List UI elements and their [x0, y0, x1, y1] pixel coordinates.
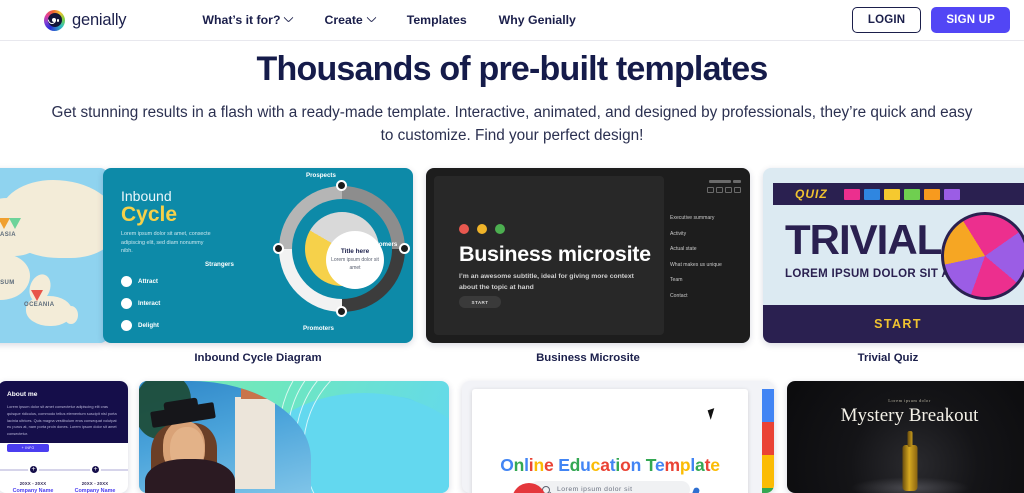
timeline-years: 20XX - 20XX	[58, 481, 128, 486]
template-card-title: Business Microsite	[426, 352, 750, 364]
microsite-title: Business microsite	[459, 242, 651, 267]
nav-item-why-genially[interactable]: Why Genially	[499, 13, 576, 27]
page-subtitle: Get stunning results in a flash with a r…	[45, 102, 980, 148]
legend-label: Attract	[138, 278, 158, 285]
page-title: Thousands of pre-built templates	[0, 49, 1024, 90]
cycle-center: Title here Lorem ipsum dolor sit amet	[326, 231, 384, 289]
cycle-ring: Title here Lorem ipsum dolor sit amet	[279, 186, 405, 312]
cycle-knob-icon	[273, 243, 284, 254]
timeline-caption: 20XX - 20XX Company Name	[58, 481, 128, 493]
template-card-inbound-cycle[interactable]: Inbound Cycle Lorem ipsum dolor sit amet…	[103, 168, 413, 364]
signup-button[interactable]: SIGN UP	[931, 7, 1010, 33]
template-thumbnail[interactable]: About me Lorem ipsum dolor sit amet cons…	[0, 381, 128, 493]
mystery-pretitle: Lorem ipsum dolor	[888, 398, 930, 403]
timeline-node-icon	[90, 464, 101, 475]
microsite-menu-item[interactable]: Executive summary	[670, 215, 722, 221]
map-pin-icon	[31, 290, 43, 301]
nav-item-label: Why Genially	[499, 13, 576, 27]
bottle-decoration	[902, 445, 917, 491]
genially-logo-icon	[44, 10, 65, 31]
legend-label: Interact	[138, 300, 160, 307]
cycle-body-text: Lorem ipsum dolor sit amet, consecte adi…	[121, 230, 213, 256]
interact-icon	[121, 298, 132, 309]
top-navbar: genially What’s it for? Create Templates…	[0, 0, 1024, 41]
brand-logo-link[interactable]: genially	[44, 10, 126, 31]
template-thumbnail[interactable]: Online Education Template Lorem ipsum do…	[462, 381, 774, 493]
quiz-title: TRIVIAL	[785, 216, 941, 264]
legend-label: Delight	[138, 322, 159, 329]
education-title: Online Education Template	[500, 455, 720, 476]
about-title: About me	[7, 391, 128, 398]
nav-item-templates[interactable]: Templates	[407, 13, 467, 27]
microsite-sidebar: Executive summary Activity Actual state …	[664, 168, 750, 343]
template-grid-row-1: UM ASIA OREM IPSUM OCEANIA p Inbound Cyc…	[0, 168, 1024, 364]
quiz-start-button[interactable]: START	[874, 317, 922, 331]
microsite-menu-item[interactable]: Team	[670, 277, 722, 283]
cycle-legend: Attract Interact Delight	[121, 276, 160, 342]
timeline-line	[0, 469, 128, 471]
nav-item-label: Create	[324, 13, 362, 27]
about-body: Lorem ipsum dolor sit amet consectetur a…	[7, 404, 119, 438]
cycle-ring-label: Promoters	[303, 325, 334, 332]
cycle-knob-icon	[336, 180, 347, 191]
nav-item-label: Templates	[407, 13, 467, 27]
nav-item-label: What’s it for?	[202, 13, 280, 27]
window-dots	[459, 224, 505, 234]
cycle-ring-label: Customers	[365, 241, 397, 248]
map-pin-icon	[9, 218, 21, 229]
template-thumbnail[interactable]: Inbound Cycle Lorem ipsum dolor sit amet…	[103, 168, 413, 343]
mystery-title: Mystery Breakout	[841, 405, 979, 427]
about-info-button[interactable]: + INFO	[7, 444, 49, 452]
microsite-main-panel: Business microsite I’m an awesome subtit…	[434, 176, 664, 335]
primary-nav: What’s it for? Create Templates Why Geni…	[202, 13, 576, 27]
template-card-title: Trivial Quiz	[763, 352, 1013, 364]
template-thumbnail[interactable]: Lorem ipsum dolor Mystery Breakout	[787, 381, 1024, 493]
template-card-about-me[interactable]: About me Lorem ipsum dolor sit amet cons…	[0, 381, 126, 493]
brand-name: genially	[72, 11, 126, 30]
cycle-center-text: Lorem ipsum dolor sit amet	[326, 257, 384, 272]
sidebar-bars-icon	[709, 180, 741, 183]
cycle-knob-icon	[399, 243, 410, 254]
template-card-trivial-quiz[interactable]: QUIZ TRIVIAL LOREM IPSUM DOLOR SIT AMET!…	[763, 168, 1024, 364]
login-button[interactable]: LOGIN	[852, 7, 921, 33]
template-card-graduate[interactable]	[139, 381, 449, 493]
template-card-title: Inbound Cycle Diagram	[103, 352, 413, 364]
map-label: OCEANIA	[24, 302, 54, 308]
attract-icon	[121, 276, 132, 287]
template-thumbnail[interactable]: QUIZ TRIVIAL LOREM IPSUM DOLOR SIT AMET!…	[763, 168, 1024, 343]
chevron-down-icon	[284, 12, 294, 22]
microsite-subtitle: I’m an awesome subtitle, ideal for givin…	[459, 272, 649, 293]
template-thumbnail[interactable]	[139, 381, 449, 493]
cycle-ring-label: Strangers	[205, 261, 234, 268]
template-card-title: p	[0, 352, 86, 364]
microsite-menu-item[interactable]: Actual state	[670, 246, 722, 252]
search-placeholder: Lorem ipsum dolor sit	[557, 486, 632, 493]
cycle-heading-1: Inbound	[121, 188, 172, 204]
template-card-mystery-breakout[interactable]: Lorem ipsum dolor Mystery Breakout	[787, 381, 1024, 493]
template-card-online-education[interactable]: Online Education Template Lorem ipsum do…	[462, 381, 774, 493]
microsite-menu-item[interactable]: What makes us unique	[670, 262, 722, 268]
nav-item-whats-it-for[interactable]: What’s it for?	[202, 13, 292, 27]
delight-icon	[121, 320, 132, 331]
education-screen: Online Education Template Lorem ipsum do…	[472, 389, 748, 493]
map-label: ASIA	[0, 232, 16, 238]
education-search-input[interactable]: Lorem ipsum dolor sit	[530, 481, 690, 493]
microsite-start-button[interactable]: START	[459, 296, 501, 308]
cycle-knob-icon	[336, 306, 347, 317]
about-header: About me Lorem ipsum dolor sit amet cons…	[0, 381, 128, 443]
legend-item: Delight	[121, 320, 160, 331]
quiz-banner: QUIZ	[773, 183, 1024, 205]
template-thumbnail[interactable]: UM ASIA OREM IPSUM OCEANIA	[0, 168, 108, 343]
cycle-center-title: Title here	[341, 248, 369, 255]
microsite-menu-item[interactable]: Activity	[670, 231, 722, 237]
hero-section: Thousands of pre-built templates Get stu…	[0, 41, 1024, 148]
quiz-tag: QUIZ	[795, 187, 828, 201]
template-thumbnail[interactable]: Business microsite I’m an awesome subtit…	[426, 168, 750, 343]
quiz-color-chips	[844, 189, 960, 200]
legend-item: Interact	[121, 298, 160, 309]
quiz-pie-icon	[941, 212, 1024, 300]
cycle-ring-label: Prospects	[306, 172, 336, 179]
color-rail	[762, 389, 774, 493]
nav-actions: LOGIN SIGN UP	[852, 7, 1010, 33]
template-grid-row-2: About me Lorem ipsum dolor sit amet cons…	[0, 381, 1024, 493]
microsite-menu: Executive summary Activity Actual state …	[670, 215, 722, 308]
map-label: OREM IPSUM	[0, 280, 15, 286]
template-card-business-microsite[interactable]: Business microsite I’m an awesome subtit…	[426, 168, 750, 364]
template-card-world-map[interactable]: UM ASIA OREM IPSUM OCEANIA p	[0, 168, 86, 364]
legend-item: Attract	[121, 276, 160, 287]
cycle-heading-2: Cycle	[121, 203, 177, 227]
timeline-node-icon	[28, 464, 39, 475]
microsite-menu-item[interactable]: Contact	[670, 293, 722, 299]
chevron-down-icon	[366, 12, 376, 22]
nav-item-create[interactable]: Create	[324, 13, 374, 27]
sidebar-squares-icon	[707, 187, 741, 193]
quiz-footer: START	[763, 305, 1024, 343]
